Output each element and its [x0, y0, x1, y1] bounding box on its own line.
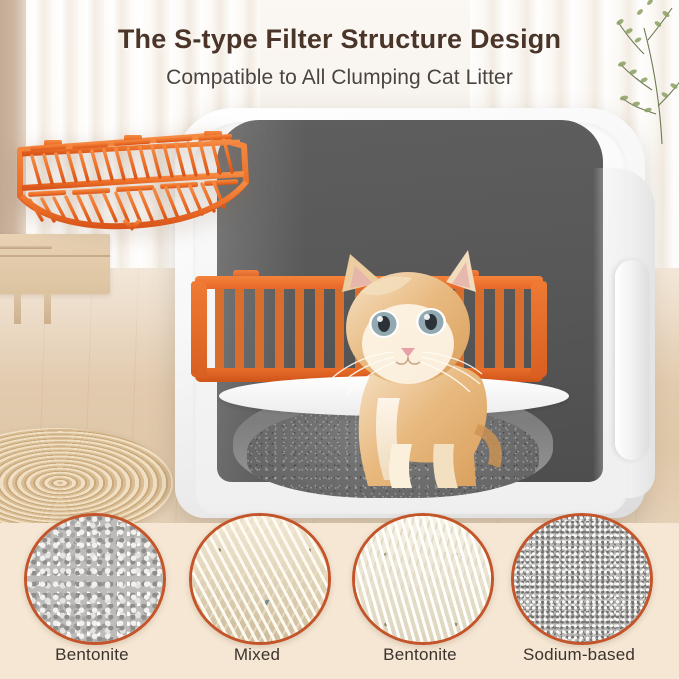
litter-swatch-label: Bentonite	[352, 645, 488, 665]
wood-cabinet	[0, 234, 110, 294]
litter-disc	[352, 513, 494, 645]
litter-disc	[511, 513, 653, 645]
page-title: The S-type Filter Structure Design	[0, 24, 679, 55]
litter-swatch-mixed: Mixed	[189, 513, 325, 645]
tan-pellets-texture	[192, 516, 328, 642]
cabinet-leg	[44, 294, 51, 324]
grate-left-edge	[191, 281, 207, 380]
white-rods-texture	[355, 516, 491, 642]
kitten-eye-left-glint	[377, 316, 383, 322]
litter-swatch-label: Bentonite	[24, 645, 160, 665]
gray-gravel-texture	[27, 516, 163, 642]
grate-right-edge	[531, 281, 547, 380]
cabinet-leg	[14, 294, 21, 324]
kitten-front-leg-left	[389, 444, 412, 488]
litter-swatch-label: Mixed	[189, 645, 325, 665]
fine-granules-texture	[514, 516, 650, 642]
litter-disc	[24, 513, 166, 645]
s-type-filter-part	[8, 124, 256, 236]
litter-swatch-bentonite-gravel: Bentonite	[24, 513, 160, 645]
litter-swatch-sodium-based: Sodium-based	[511, 513, 647, 645]
litter-swatch-label: Sodium-based	[511, 645, 647, 665]
kitten-eye-right-glint	[424, 314, 430, 320]
page-subtitle: Compatible to All Clumping Cat Litter	[0, 66, 679, 90]
kitten-photo	[300, 248, 515, 493]
unit-side-handle	[615, 260, 649, 460]
product-marketing-image: The S-type Filter Structure Design Compa…	[0, 0, 679, 679]
litter-disc	[189, 513, 331, 645]
cabinet-handle	[0, 246, 52, 249]
litter-swatch-bentonite-rods: Bentonite	[352, 513, 488, 645]
cabinet-seam	[0, 255, 110, 257]
